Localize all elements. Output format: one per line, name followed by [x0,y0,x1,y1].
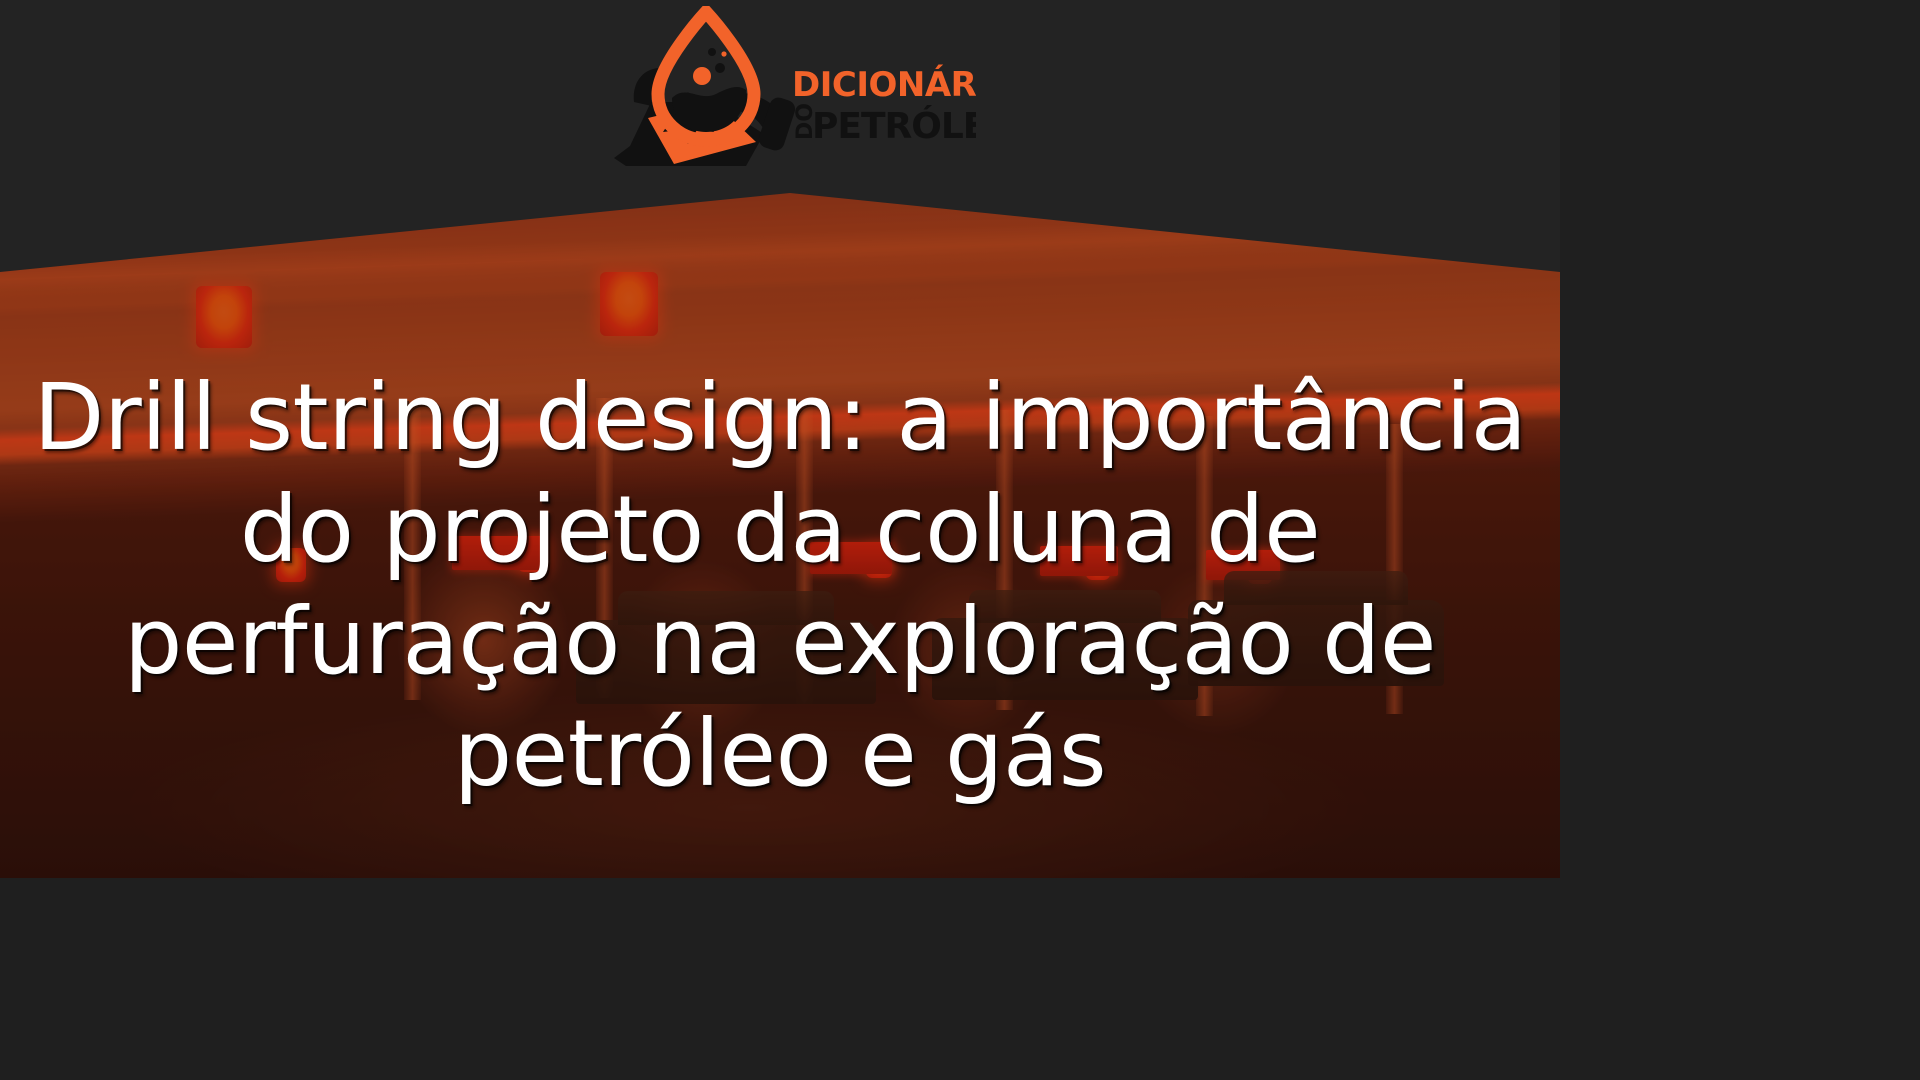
logo-word-dicionario: DICIONÁRIO [792,64,976,105]
oil-drop-icon [658,12,754,140]
article-title: Drill string design: a importância do pr… [0,362,1560,811]
site-logo[interactable]: DICIONÁRIO DO PETRÓLEO [596,6,976,168]
article-header-banner: DICIONÁRIO DO PETRÓLEO Drill string desi… [0,0,1560,878]
logo-word-petroleo: PETRÓLEO [812,105,976,147]
